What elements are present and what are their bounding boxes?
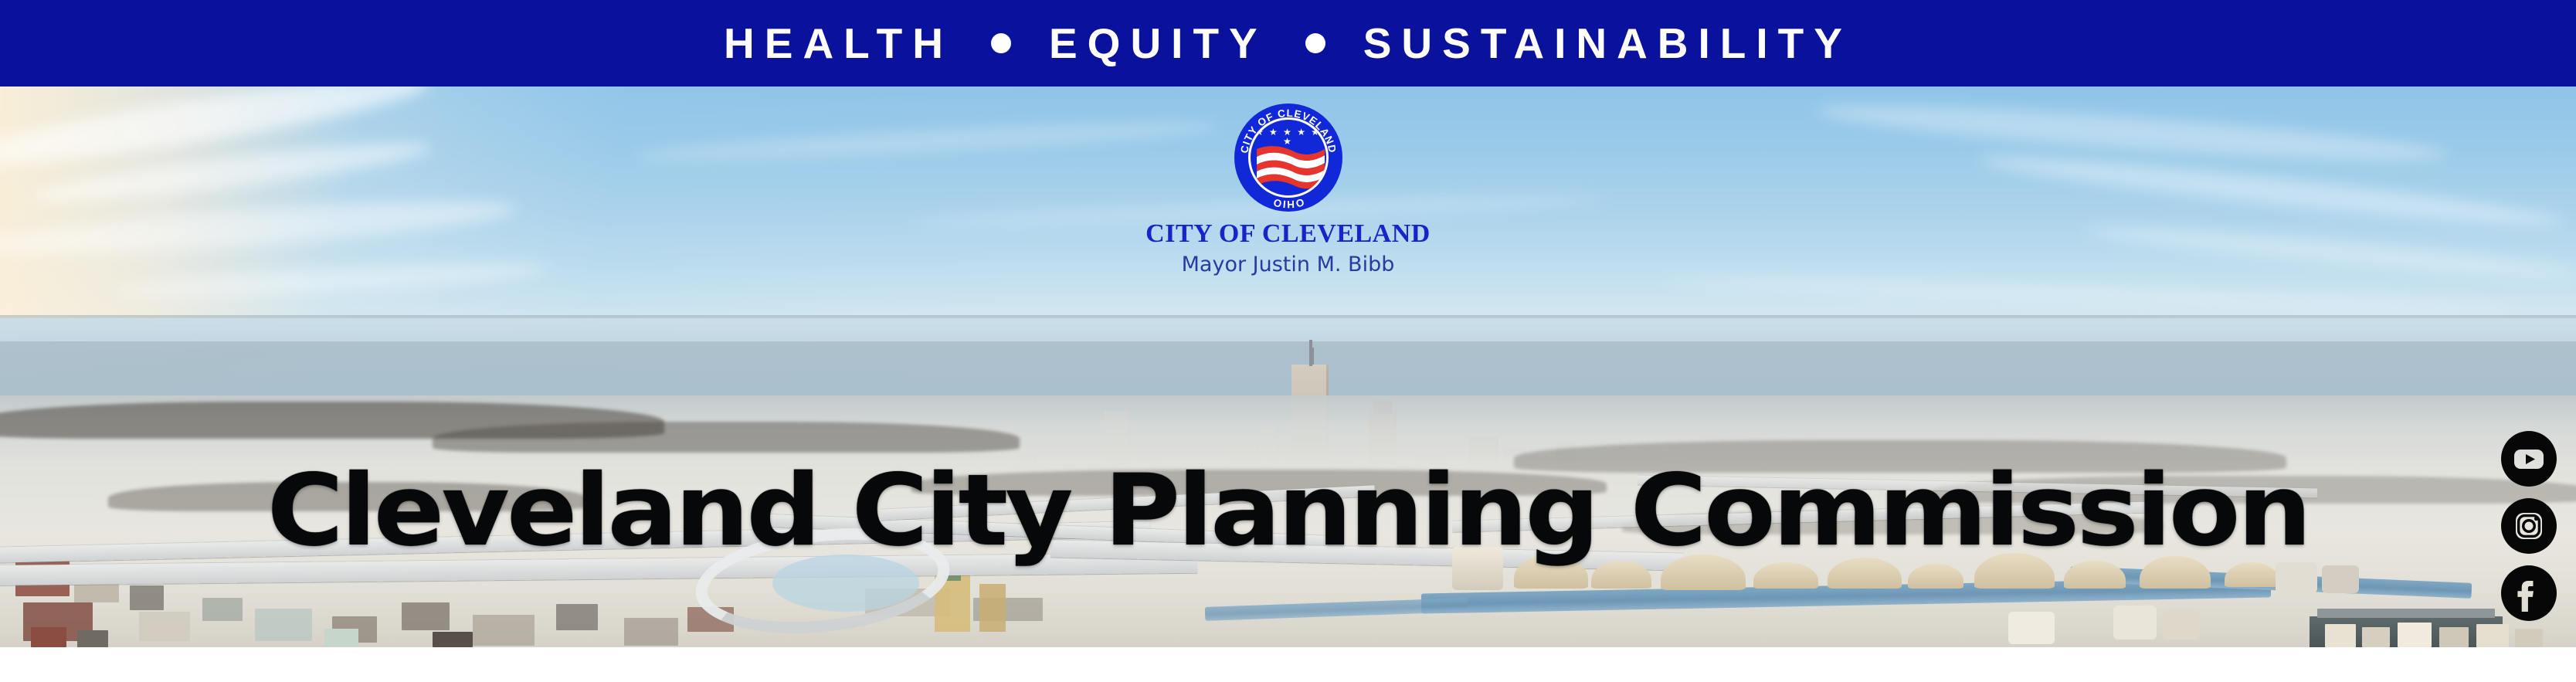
city-of-cleveland-seal-icon: CITY OF CLEVELAND OHIO ★ ★ ★ ★ ★ ★ bbox=[1234, 103, 1342, 212]
youtube-icon[interactable] bbox=[2501, 431, 2557, 487]
bottom-white-strip bbox=[0, 647, 2576, 682]
seal-inner-disc: ★ ★ ★ ★ ★ ★ bbox=[1248, 117, 1329, 198]
seal-stars: ★ ★ ★ ★ ★ ★ bbox=[1251, 127, 1326, 146]
social-links bbox=[2501, 431, 2557, 621]
tagline-inner: HEALTH EQUITY SUSTAINABILITY bbox=[722, 22, 1854, 65]
city-branding-lockup[interactable]: CITY OF CLEVELAND OHIO ★ ★ ★ ★ ★ ★ bbox=[1072, 103, 1505, 275]
page-title: Cleveland City Planning Commission bbox=[0, 462, 2576, 561]
tagline-word-sustainability: SUSTAINABILITY bbox=[1362, 22, 1854, 65]
waving-flag-icon bbox=[1255, 146, 1326, 191]
instagram-icon[interactable] bbox=[2501, 498, 2557, 554]
tagline-bar: HEALTH EQUITY SUSTAINABILITY bbox=[0, 0, 2576, 87]
hero-photo: CITY OF CLEVELAND OHIO ★ ★ ★ ★ ★ ★ bbox=[0, 87, 2576, 647]
organization-name: CITY OF CLEVELAND bbox=[1145, 221, 1431, 247]
mayor-name: Mayor Justin M. Bibb bbox=[1182, 254, 1395, 275]
bullet-dot-icon bbox=[991, 33, 1011, 53]
tagline-word-health: HEALTH bbox=[722, 22, 955, 65]
facebook-icon[interactable] bbox=[2501, 565, 2557, 621]
page-root: HEALTH EQUITY SUSTAINABILITY bbox=[0, 0, 2576, 682]
svg-text:OHIO: OHIO bbox=[1271, 196, 1305, 210]
bullet-dot-icon bbox=[1305, 33, 1325, 53]
tagline-word-equity: EQUITY bbox=[1047, 22, 1269, 65]
